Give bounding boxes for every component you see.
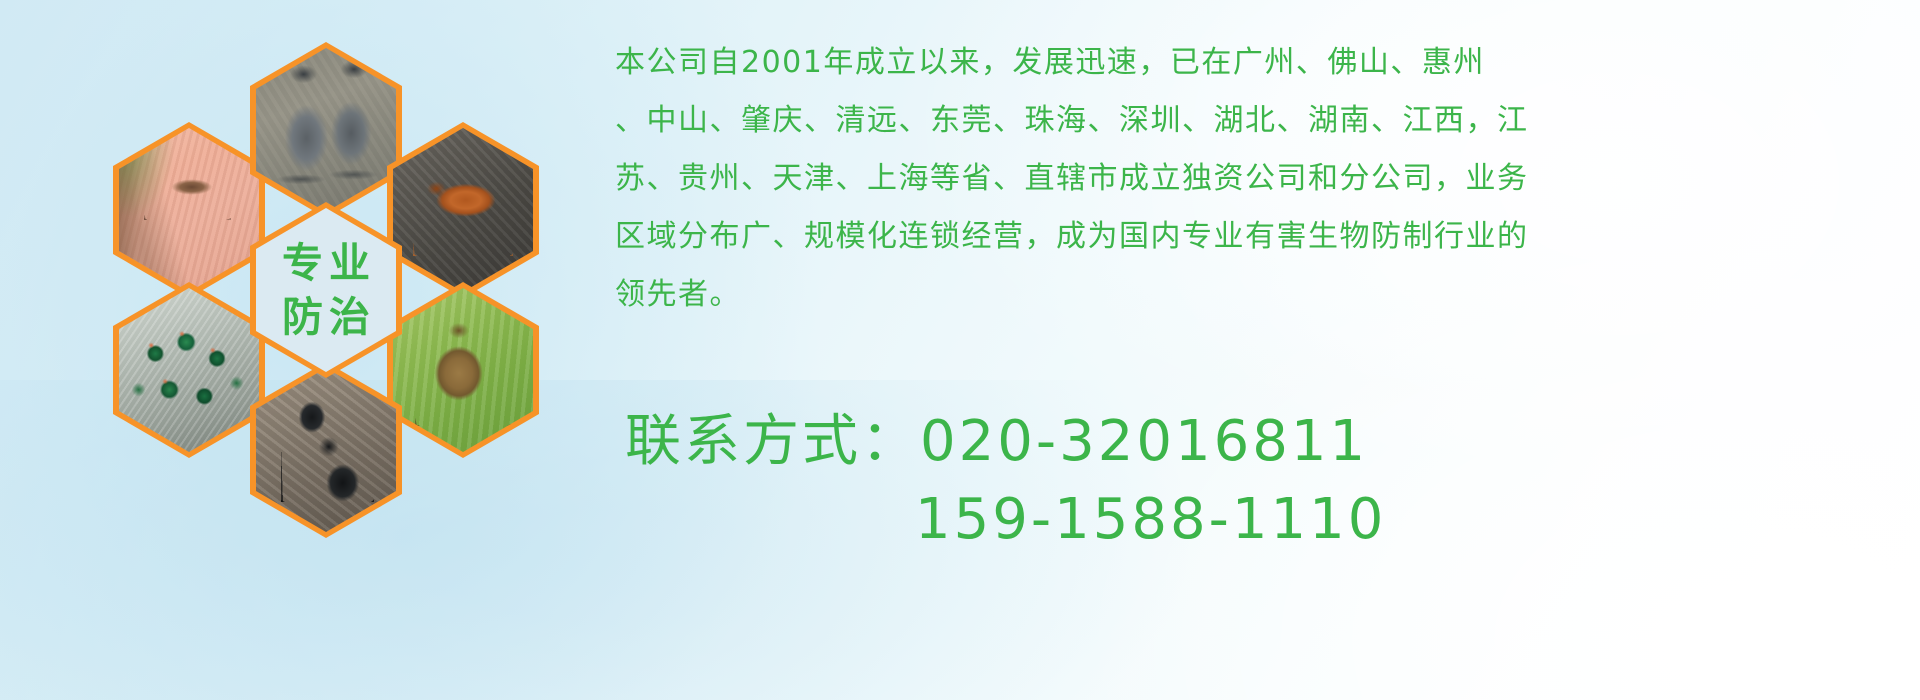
intro-paragraph: 本公司自2001年成立以来，发展迅速，已在广州、佛山、惠州 、中山、肇庆、清远、…	[615, 34, 1905, 324]
hex-inner-mosquito	[119, 128, 259, 292]
intro-line-5: 领先者。	[615, 266, 1905, 324]
hex-photo-mosquito	[113, 122, 265, 298]
honeycomb-logo: 专业 防治	[95, 10, 595, 570]
hex-photo-cockroach	[387, 122, 539, 298]
hex-inner-ant	[256, 368, 396, 532]
cockroach-icon	[393, 128, 533, 292]
fly-icon	[119, 288, 259, 452]
stinkbug-icon	[393, 288, 533, 452]
slogan-line-2: 防治	[276, 290, 376, 344]
ant-icon	[256, 368, 396, 532]
intro-line-2: 、中山、肇庆、清远、东莞、珠海、深圳、湖北、湖南、江西，江	[615, 92, 1905, 150]
hex-inner-flies	[119, 288, 259, 452]
contact-block: 联系方式：020-32016811 159-1588-1110	[625, 403, 1915, 559]
hex-photo-stinkbug	[387, 282, 539, 458]
intro-line-3: 苏、贵州、天津、上海等省、直辖市成立独资公司和分公司，业务	[615, 150, 1905, 208]
intro-line-4: 区域分布广、规模化连锁经营，成为国内专业有害生物防制行业的	[615, 208, 1905, 266]
hex-inner-stinkbug	[393, 288, 533, 452]
contact-phone-mobile[interactable]: 159-1588-1110	[625, 481, 1915, 559]
contact-phone-landline[interactable]: 联系方式：020-32016811	[625, 403, 1915, 481]
hex-slogan: 专业 防治	[250, 202, 402, 378]
hex-inner-cockroach	[393, 128, 533, 292]
hex-photo-flies	[113, 282, 265, 458]
promo-banner: 专业 防治 本公司自2001年成立以来，发展迅速，已在广州、佛山、惠州 、中山、…	[0, 0, 1920, 700]
hex-photo-ant	[250, 362, 402, 538]
slogan-line-1: 专业	[276, 236, 376, 290]
hex-photo-rats	[250, 42, 402, 218]
hex-inner-rats	[256, 48, 396, 212]
hex-inner-slogan: 专业 防治	[256, 208, 396, 372]
rat-icon	[256, 48, 396, 212]
intro-line-1: 本公司自2001年成立以来，发展迅速，已在广州、佛山、惠州	[615, 34, 1905, 92]
mosquito-icon	[119, 128, 259, 292]
